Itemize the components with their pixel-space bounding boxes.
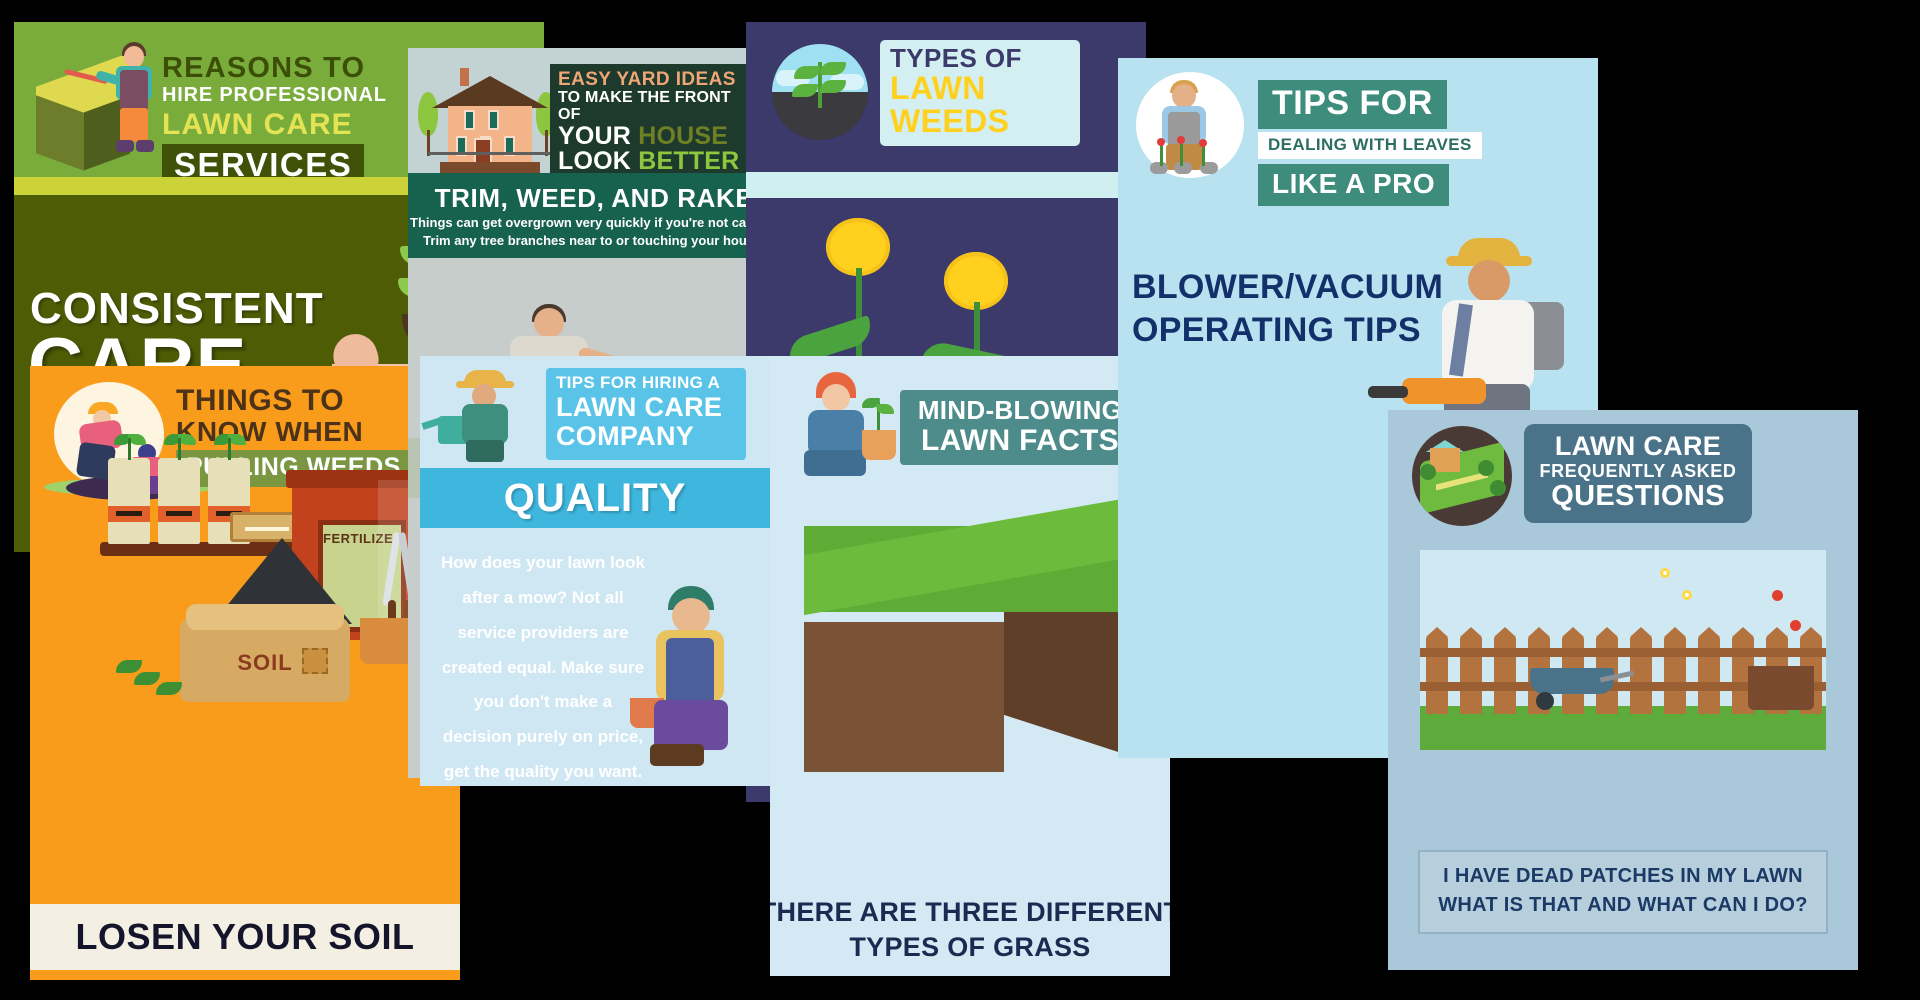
faq-title-line3: QUESTIONS: [1536, 481, 1740, 513]
ground-line-decor: [428, 152, 550, 155]
daisy-flower-icon-2: [1682, 590, 1692, 600]
tomato-icon: [1772, 590, 1783, 601]
leaves-heading-line1: BLOWER/VACUUM: [1132, 266, 1432, 309]
lawn-weeds-divider: [746, 172, 1146, 198]
lawn-facts-footer: THERE ARE THREE DIFFERENT TYPES OF GRASS: [770, 884, 1170, 976]
hiring-title-line1: TIPS FOR HIRING A: [556, 374, 736, 393]
card-lawn-facts[interactable]: MIND-BLOWING LAWN FACTS THERE ARE THREE …: [770, 356, 1170, 976]
lawn-facts-footer-line1: THERE ARE THREE DIFFERENT: [770, 895, 1170, 930]
faq-question-banner: I HAVE DEAD PATCHES IN MY LAWN WHAT IS T…: [1418, 850, 1828, 934]
lawn-weeds-title-line3: WEEDS: [890, 105, 1070, 138]
hiring-title-line2: LAWN CARE: [556, 393, 736, 422]
weeds-footer-text: LOSEN YOUR SOIL: [76, 916, 415, 958]
leaves-title-line3: LIKE A PRO: [1258, 164, 1449, 206]
yard-title-line2: TO MAKE THE FRONT OF: [558, 90, 757, 124]
daisy-flower-icon: [1660, 568, 1670, 578]
leaves-title-line2: DEALING WITH LEAVES: [1258, 132, 1482, 159]
card-lawn-care-faq[interactable]: LAWN CARE FREQUENTLY ASKED QUESTIONS: [1388, 410, 1858, 970]
seed-sack-1: [108, 458, 150, 544]
hiring-paragraph: How does your lawn look after a mow? Not…: [438, 546, 648, 786]
seedling-circle-icon: [772, 44, 868, 140]
planter-box-icon: [1748, 666, 1814, 710]
reasons-title-line3: LAWN CARE: [162, 108, 353, 142]
lawn-facts-title-box: MIND-BLOWING LAWN FACTS: [900, 390, 1140, 465]
lawn-weeds-title-box: TYPES OF LAWN WEEDS: [880, 40, 1080, 146]
yard-band-heading: TRIM, WEED, AND RAKE: [408, 173, 780, 214]
card-hiring-lawn-company[interactable]: TIPS FOR HIRING A LAWN CARE COMPANY QUAL…: [420, 356, 770, 786]
turf-cross-section-illustration: [804, 526, 1134, 806]
leaves-heading: BLOWER/VACUUM OPERATING TIPS: [1132, 266, 1432, 351]
weeds-title-line1: THINGS TO: [176, 384, 344, 418]
faq-title-line1: LAWN CARE: [1536, 432, 1740, 462]
yard-band: TRIM, WEED, AND RAKE Things can get over…: [408, 173, 780, 258]
faq-question-line1: I HAVE DEAD PATCHES IN MY LAWN: [1428, 862, 1818, 891]
yard-title-line4: LOOK BETTER: [558, 149, 757, 175]
woman-potting-icon: [626, 576, 766, 776]
card-pulling-weeds[interactable]: THINGS TO KNOW WHEN PULLING WEEDS FERTIL…: [30, 366, 460, 980]
quality-band: QUALITY: [420, 468, 770, 528]
hiring-title-box: TIPS FOR HIRING A LAWN CARE COMPANY: [546, 368, 746, 460]
seed-sack-2: [158, 458, 200, 544]
tomato-icon-2: [1790, 620, 1801, 631]
faq-title-line2: FREQUENTLY ASKED: [1536, 462, 1740, 482]
man-watering-flowers-icon: [1136, 72, 1244, 178]
leaves-title-line1: TIPS FOR: [1258, 80, 1447, 129]
lawn-facts-footer-line2: TYPES OF GRASS: [849, 930, 1090, 965]
lawn-weeds-title-line1: TYPES OF: [890, 45, 1070, 72]
lawn-facts-title-line1: MIND-BLOWING: [910, 396, 1130, 425]
yard-title-line3: YOUR HOUSE: [558, 124, 757, 150]
yard-title-line1: EASY YARD IDEAS: [558, 70, 757, 90]
vine-decor: [116, 652, 226, 698]
yard-title-box: EASY YARD IDEAS TO MAKE THE FRONT OF YOU…: [550, 64, 765, 183]
watering-gardener-icon: [438, 368, 538, 462]
weeds-footer-banner: LOSEN YOUR SOIL: [30, 894, 460, 980]
reasons-title-line2: HIRE PROFESSIONAL: [162, 84, 387, 107]
infographic-collage: REASONS TO HIRE PROFESSIONAL LAWN CARE S…: [0, 0, 1920, 1000]
quality-heading: QUALITY: [504, 476, 687, 521]
hiring-title-line3: COMPANY: [556, 422, 736, 451]
wheelbarrow-icon: [1530, 668, 1630, 710]
yard-band-body-line2: Trim any tree branches near to or touchi…: [408, 232, 780, 250]
woman-planting-icon: [790, 370, 900, 480]
lawn-facts-title-line2: LAWN FACTS: [910, 425, 1130, 457]
leaves-heading-line2: OPERATING TIPS: [1132, 309, 1432, 352]
faq-title-box: LAWN CARE FREQUENTLY ASKED QUESTIONS: [1524, 424, 1752, 523]
house-icon: [436, 66, 544, 174]
lawn-weeds-title-line2: LAWN: [890, 72, 1070, 105]
garden-aerial-icon: [1412, 426, 1512, 526]
yard-header: EASY YARD IDEAS TO MAKE THE FRONT OF YOU…: [408, 48, 780, 173]
weeds-title-line2: KNOW WHEN: [176, 416, 363, 448]
faq-question-line2: WHAT IS THAT AND WHAT CAN I DO?: [1428, 891, 1818, 920]
yard-band-body-line1: Things can get overgrown very quickly if…: [408, 214, 780, 232]
reasons-title-line1: REASONS TO: [162, 52, 365, 85]
faq-garden-scene: [1420, 550, 1826, 750]
